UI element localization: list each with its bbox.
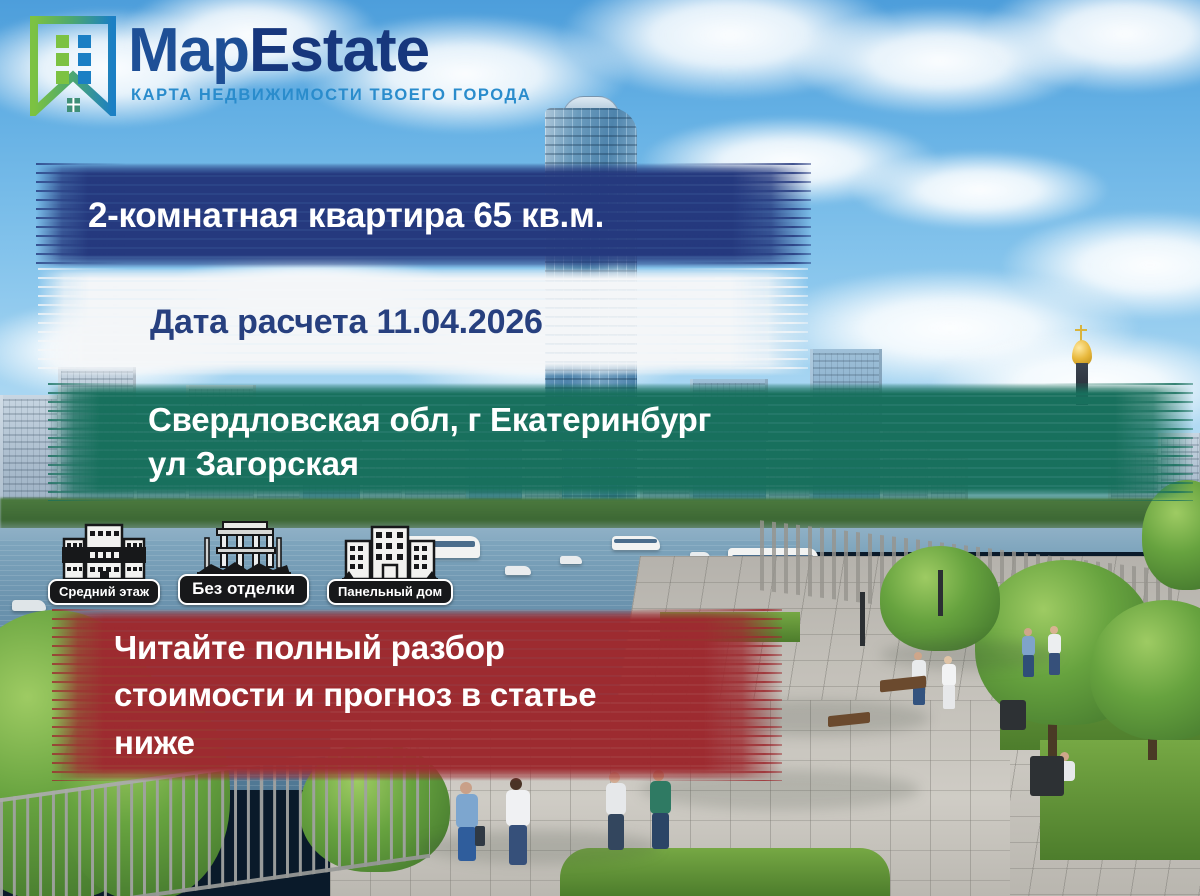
banner-calculation-date: Дата расчета 11.04.2026 <box>38 268 808 376</box>
brand-title-part2: Estate <box>249 16 429 85</box>
feature-no-finishing[interactable]: Без отделки <box>178 516 309 605</box>
small-boat <box>12 600 46 611</box>
street-lamp <box>860 592 865 646</box>
feature-label-mid-floor: Средний этаж <box>48 579 160 605</box>
address-line-region-city: Свердловская обл, г Екатеринбург <box>148 398 711 442</box>
brand-tagline: КАРТА НЕДВИЖИМОСТИ ТВОЕГО ГОРОДА <box>131 86 531 105</box>
panel-house-icon <box>342 521 438 583</box>
banner-address: Свердловская обл, г Екатеринбург ул Заго… <box>48 383 1193 501</box>
feature-badges: Средний этаж <box>48 516 453 605</box>
church-cross-icon <box>1080 325 1082 341</box>
address-line-street: ул Загорская <box>148 442 711 486</box>
feature-panel-house[interactable]: Панельный дом <box>327 521 453 605</box>
mid-floor-building-icon <box>62 521 146 583</box>
promo-poster: MapEstate КАРТА НЕДВИЖИМОСТИ ТВОЕГО ГОРО… <box>0 0 1200 896</box>
brand-logo[interactable]: MapEstate КАРТА НЕДВИЖИМОСТИ ТВОЕГО ГОРО… <box>30 16 531 116</box>
feature-label-panel-house: Панельный дом <box>327 579 453 605</box>
banner-call-to-action: Читайте полный разбор стоимости и прогно… <box>52 609 782 781</box>
small-boat <box>505 566 531 575</box>
trash-bin <box>1000 700 1026 730</box>
river-boat <box>612 536 660 550</box>
cta-text: Читайте полный разбор стоимости и прогно… <box>52 624 596 766</box>
street-lamp <box>938 570 943 616</box>
trash-bin <box>1030 756 1064 796</box>
small-boat <box>560 556 582 564</box>
feature-mid-floor[interactable]: Средний этаж <box>48 521 160 605</box>
cta-line-3: ниже <box>114 719 596 766</box>
unfinished-construction-icon <box>197 516 291 578</box>
apartment-title-text: 2-комнатная квартира 65 кв.м. <box>36 196 604 236</box>
calculation-date-text: Дата расчета 11.04.2026 <box>38 303 543 342</box>
address-text: Свердловская обл, г Екатеринбург ул Заго… <box>48 398 711 486</box>
banner-apartment-title: 2-комнатная квартира 65 кв.м. <box>36 163 811 268</box>
feature-label-no-finishing: Без отделки <box>178 574 309 605</box>
cta-line-1: Читайте полный разбор <box>114 624 596 671</box>
cta-line-2: стоимости и прогноз в статье <box>114 671 596 718</box>
brand-title: MapEstate <box>128 22 531 81</box>
brand-title-part1: Map <box>128 16 249 85</box>
bookmark-building-icon <box>30 16 116 116</box>
